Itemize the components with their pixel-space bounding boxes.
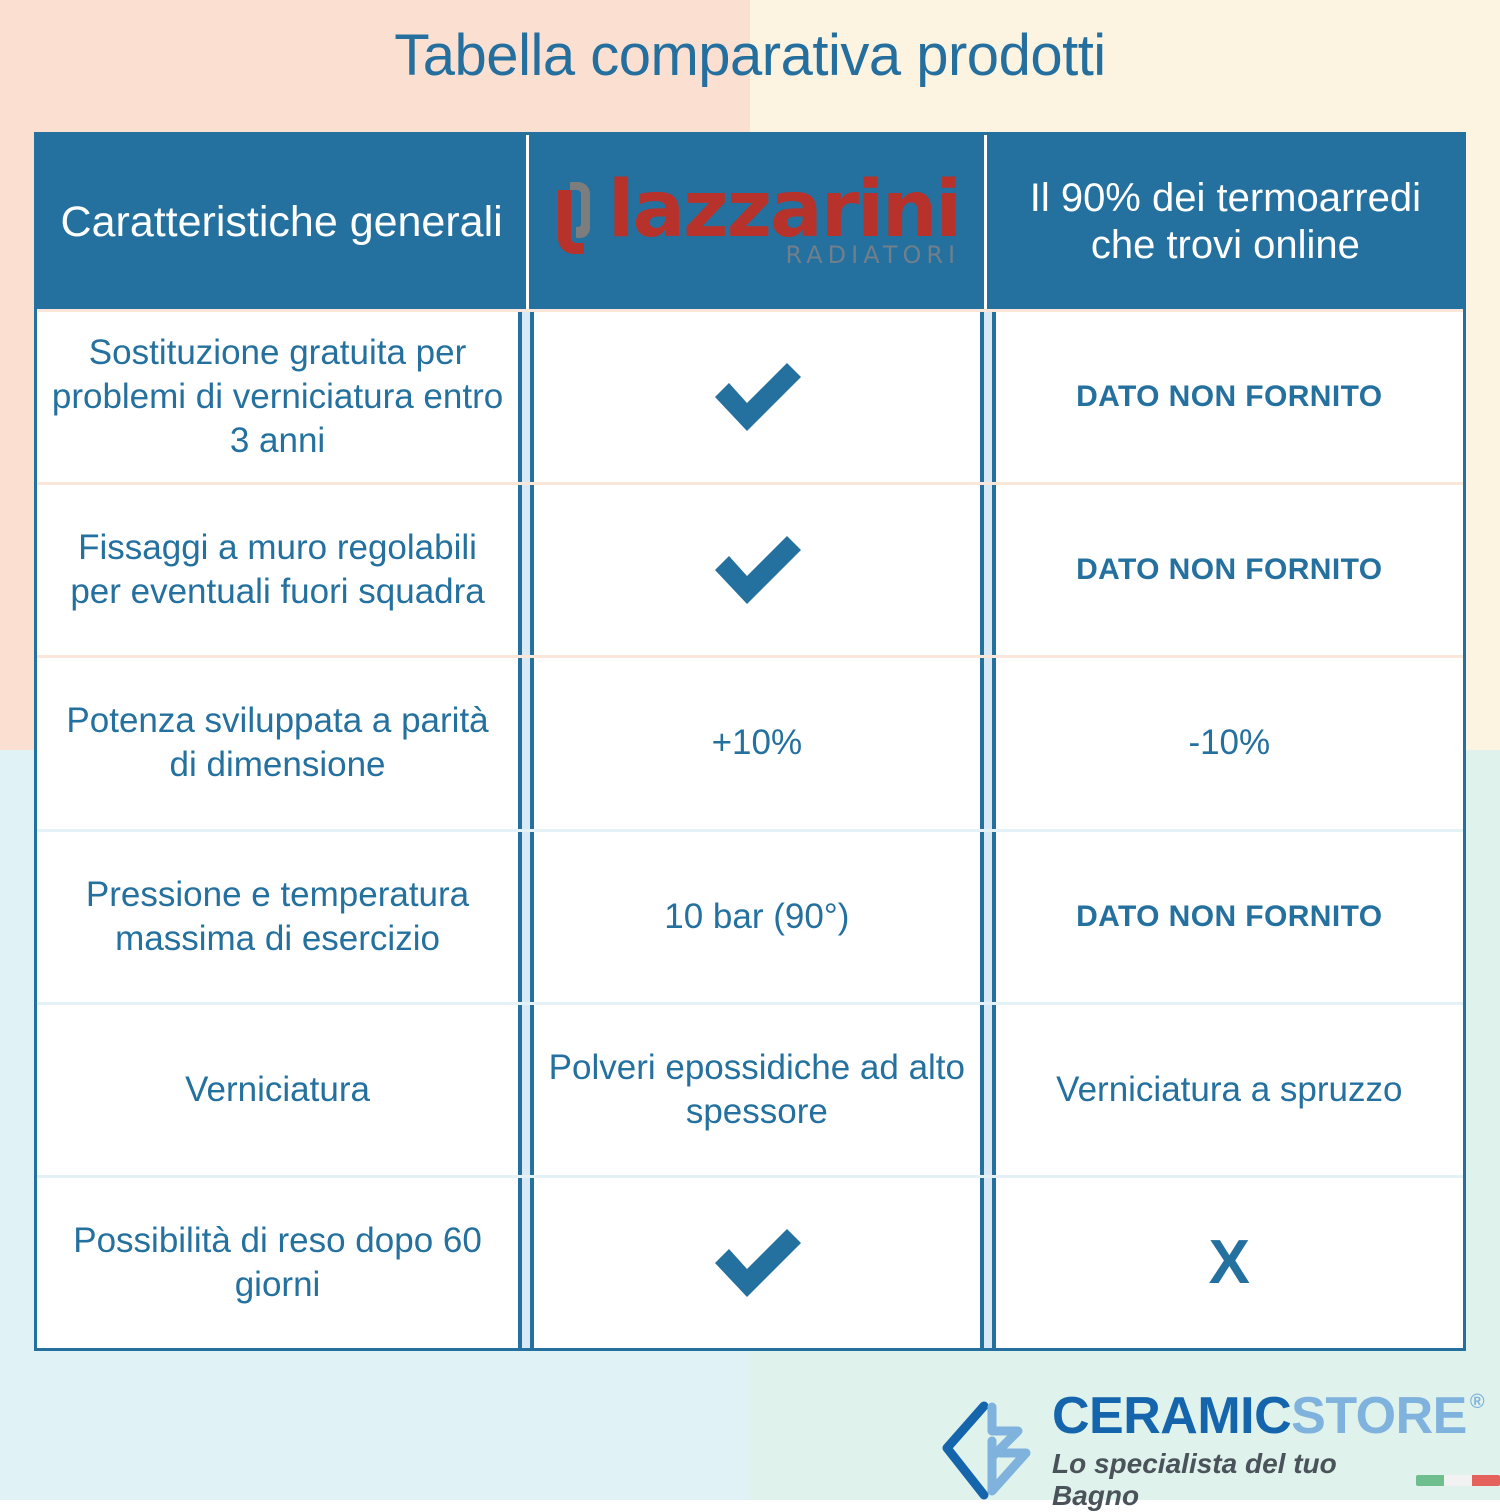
- row-competitor-value: -10%: [996, 658, 1463, 828]
- row-divider-1: [518, 485, 534, 655]
- row-divider-2: [980, 832, 996, 1002]
- italian-flag-icon: [1416, 1475, 1500, 1486]
- check-icon: [705, 532, 809, 608]
- row-feature-label: Verniciatura: [37, 1005, 518, 1175]
- table-row: Potenza sviluppata a parità di dimension…: [37, 655, 1463, 828]
- row-lazzarini-value: [534, 485, 980, 655]
- ceramicstore-mark-icon: [940, 1401, 1036, 1501]
- row-competitor-value: Verniciatura a spruzzo: [996, 1005, 1463, 1175]
- row-divider-2: [980, 1005, 996, 1175]
- row-lazzarini-value: 10 bar (90°): [534, 832, 980, 1002]
- row-lazzarini-value: Polveri epossidiche ad alto spessore: [534, 1005, 980, 1175]
- lazzarini-logo: lazzarini RADIATORI: [544, 175, 969, 269]
- page-title: Tabella comparativa prodotti: [0, 24, 1500, 88]
- table-row: Sostituzione gratuita per problemi di ve…: [37, 309, 1463, 482]
- cross-icon: X: [996, 1178, 1463, 1348]
- ceramicstore-logo: CERAMIC STORE ® Lo specialista del tuo B…: [940, 1390, 1500, 1512]
- row-divider-2: [980, 658, 996, 828]
- row-lazzarini-value: [534, 312, 980, 482]
- check-icon: [705, 1225, 809, 1301]
- row-competitor-value: DATO NON FORNITO: [996, 485, 1463, 655]
- check-icon: [705, 359, 809, 435]
- comparison-table: Caratteristiche generali lazzarini RADIA…: [34, 132, 1466, 1351]
- brand-name-part2: STORE: [1291, 1390, 1467, 1442]
- header-cell-lazzarini: lazzarini RADIATORI: [530, 135, 983, 309]
- row-divider-2: [980, 312, 996, 482]
- registered-trademark-icon: ®: [1470, 1392, 1485, 1412]
- row-divider-1: [518, 658, 534, 828]
- row-feature-label: Potenza sviluppata a parità di dimension…: [37, 658, 518, 828]
- row-divider-2: [980, 1178, 996, 1348]
- row-lazzarini-value: +10%: [534, 658, 980, 828]
- header-cell-competitors: Il 90% dei termoarredi che trovi online: [988, 135, 1463, 309]
- row-divider-1: [518, 1178, 534, 1348]
- row-lazzarini-value: [534, 1178, 980, 1348]
- row-competitor-value: DATO NON FORNITO: [996, 832, 1463, 1002]
- row-feature-label: Possibilità di reso dopo 60 giorni: [37, 1178, 518, 1348]
- table-row: Pressione e temperatura massima di eserc…: [37, 829, 1463, 1002]
- table-row: Possibilità di reso dopo 60 giorni X: [37, 1175, 1463, 1348]
- row-divider-1: [518, 312, 534, 482]
- row-competitor-value: DATO NON FORNITO: [996, 312, 1463, 482]
- row-divider-1: [518, 1005, 534, 1175]
- header-cell-features: Caratteristiche generali: [37, 135, 526, 309]
- table-row: Fissaggi a muro regolabili per eventuali…: [37, 482, 1463, 655]
- row-feature-label: Sostituzione gratuita per problemi di ve…: [37, 312, 518, 482]
- brand-name-part1: CERAMIC: [1052, 1390, 1291, 1442]
- row-divider-2: [980, 485, 996, 655]
- table-header-row: Caratteristiche generali lazzarini RADIA…: [37, 135, 1463, 309]
- row-feature-label: Fissaggi a muro regolabili per eventuali…: [37, 485, 518, 655]
- brand-tagline: Lo specialista del tuo Bagno: [1052, 1448, 1400, 1512]
- row-divider-1: [518, 832, 534, 1002]
- row-feature-label: Pressione e temperatura massima di eserc…: [37, 832, 518, 1002]
- lazzarini-mark-icon: [554, 176, 600, 268]
- table-row: Verniciatura Polveri epossidiche ad alto…: [37, 1002, 1463, 1175]
- lazzarini-wordmark: lazzarini: [608, 175, 960, 247]
